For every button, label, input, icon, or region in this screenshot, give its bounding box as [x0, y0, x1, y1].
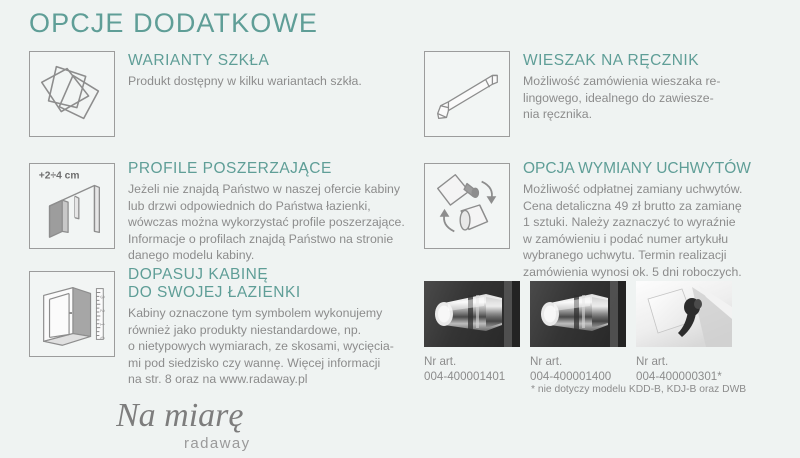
feature-body: Kabiny oznaczone tym symbolem wykonujemy… — [128, 302, 438, 388]
feature-body-line: Cena detaliczna 49 zł brutto za zamianę — [523, 198, 793, 215]
widening-profile-label: +2÷4 cm — [39, 171, 80, 182]
feature-body-line: lub drzwi odpowiednich do Państwa łazien… — [128, 198, 448, 215]
feature-body-line: nia ręcznika. — [523, 106, 773, 123]
feature-body-line: w zamówieniu i podać numer artykułu — [523, 231, 793, 248]
feature-heading: PROFILE POSZERZAJĄCE — [128, 160, 448, 178]
feature-heading: WIESZAK NA RĘCZNIK — [523, 52, 773, 70]
feature-body-line: Produkt dostępny w kilku wariantach szkł… — [128, 73, 378, 90]
article-label: Nr art. — [636, 354, 722, 369]
article-label: Nr art. — [424, 354, 505, 369]
feature-body-line: Możliwość odpłatnej zamiany uchwytów. — [523, 181, 793, 198]
feature-body-line: Informacje o profilach znajdą Państwo na… — [128, 231, 448, 248]
feature-body-line: wówczas można wykorzystać profile poszer… — [128, 214, 448, 231]
feature-body-line: również jako produkty niestandardowe, np… — [128, 322, 438, 339]
feature-heading: WARIANTY SZKŁA — [128, 52, 378, 70]
towel-rail-icon — [424, 51, 510, 137]
feature-body: Produkt dostępny w kilku wariantach szkł… — [128, 70, 378, 90]
svg-text:3: 3 — [98, 295, 104, 298]
svg-text:2: 2 — [98, 309, 104, 312]
widening-profile-icon: +2÷4 cm — [29, 163, 115, 249]
product-article-3: Nr art. 004-400000301* — [636, 354, 722, 384]
feature-heading: DOPASUJ KABINĘ — [128, 266, 438, 284]
feature-heading-line2: DO SWOJEJ ŁAZIENKI — [128, 284, 438, 302]
feature-body-line: lingowego, idealnego do zawiesze- — [523, 90, 773, 107]
feature-body-line: na str. 8 oraz na www.radaway.pl — [128, 371, 438, 388]
na-miare-radaway-logo: Na miarę radaway — [116, 392, 306, 454]
article-number: 004-400001400 — [530, 369, 611, 384]
glass-variants-icon — [29, 51, 115, 137]
feature-body-line: mi pod siedzisko czy wannę. Więcej infor… — [128, 355, 438, 372]
logo-script-text: Na miarę — [116, 397, 244, 434]
feature-body-line: Możliwość zamówienia wieszaka re- — [523, 73, 773, 90]
product-article-1: Nr art. 004-400001401 — [424, 354, 505, 384]
feature-body: Możliwość odpłatnej zamiany uchwytów. Ce… — [523, 178, 793, 281]
product-photo-2 — [530, 281, 626, 347]
article-number: 004-400001401 — [424, 369, 505, 384]
feature-profile-poszerzajace: PROFILE POSZERZAJĄCE Jeżeli nie znajdą P… — [128, 160, 448, 264]
feature-body-line: Jeżeli nie znajdą Państwo w naszej oferc… — [128, 181, 448, 198]
article-number: 004-400000301* — [636, 369, 722, 384]
feature-wieszak-na-recznik: WIESZAK NA RĘCZNIK Możliwość zamówienia … — [523, 52, 773, 123]
product-photo-1 — [424, 281, 520, 347]
logo-brand-text: radaway — [184, 435, 251, 452]
products-footnote: * nie dotyczy modelu KDD-B, KDJ-B oraz D… — [531, 384, 746, 395]
feature-heading: OPCJA WYMIANY UCHWYTÓW — [523, 160, 793, 178]
feature-body: Jeżeli nie znajdą Państwo w naszej oferc… — [128, 178, 448, 264]
svg-text:1: 1 — [98, 323, 104, 326]
feature-body-line: Kabiny oznaczone tym symbolem wykonujemy — [128, 305, 438, 322]
feature-opcja-wymiany-uchwytow: OPCJA WYMIANY UCHWYTÓW Możliwość odpłatn… — [523, 160, 793, 281]
feature-body-line: zamówienia wynosi ok. 5 dni roboczych. — [523, 264, 793, 281]
feature-body-line: danego modelu kabiny. — [128, 247, 448, 264]
product-photo-3 — [636, 281, 732, 347]
handle-exchange-icon — [424, 163, 510, 249]
cabin-measure-icon: 3 2 1 0 — [29, 271, 115, 357]
product-article-2: Nr art. 004-400001400 — [530, 354, 611, 384]
feature-body-line: o nietypowych wymiarach, ze skosami, wyc… — [128, 338, 438, 355]
opcje-dodatkowe-page: OPCJE DODATKOWE WARIANTY SZKŁA Produkt d… — [0, 0, 800, 458]
article-label: Nr art. — [530, 354, 611, 369]
feature-body: Możliwość zamówienia wieszaka re- lingow… — [523, 70, 773, 123]
feature-body-line: wybranego uchwytu. Termin realizacji — [523, 247, 793, 264]
feature-warianty-szkla: WARIANTY SZKŁA Produkt dostępny w kilku … — [128, 52, 378, 90]
feature-dopasuj-kabine: DOPASUJ KABINĘ DO SWOJEJ ŁAZIENKI Kabiny… — [128, 266, 438, 388]
page-title: OPCJE DODATKOWE — [29, 8, 318, 39]
feature-body-line: 1 sztuki. Należy zaznaczyć to wyraźnie — [523, 214, 793, 231]
